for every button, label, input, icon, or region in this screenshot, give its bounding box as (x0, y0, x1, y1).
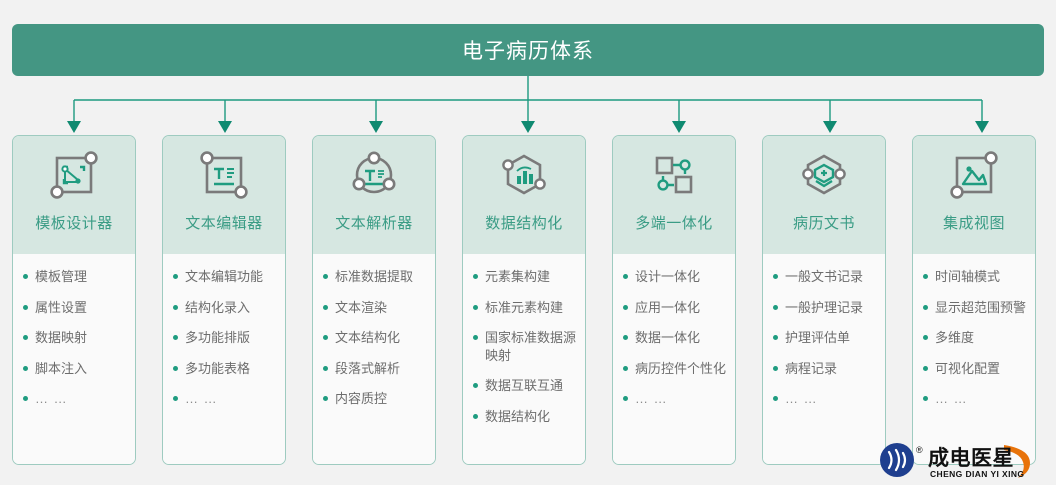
bullet-dot (773, 305, 778, 310)
image-frame-icon (943, 146, 1005, 208)
list-item-label: … … (35, 390, 68, 408)
card-body: 标准数据提取 文本渲染 文本结构化 段落式解析 内容质控 (313, 254, 435, 464)
bullet-dot (323, 396, 328, 401)
bullet-dot (923, 274, 928, 279)
list-item-label: 病历控件个性化 (635, 360, 726, 378)
list-item: 结构化录入 (173, 299, 277, 317)
arrowhead-3 (369, 121, 383, 133)
card-body: 一般文书记录 一般护理记录 护理评估单 病程记录 … … (763, 254, 885, 464)
list-item: 标准数据提取 (323, 268, 427, 286)
brand-logo: ® 成电医星 CHENG DIAN YI XING (876, 437, 1048, 483)
list-item: 文本渲染 (323, 299, 427, 317)
list-item: 文本编辑功能 (173, 268, 277, 286)
card-title: 模板设计器 (35, 212, 113, 233)
template-frame-icon (43, 146, 105, 208)
list-item: 应用一体化 (623, 299, 727, 317)
bullet-dot (773, 335, 778, 340)
card-body: 设计一体化 应用一体化 数据一体化 病历控件个性化 … … (613, 254, 735, 464)
card-medical-record-documents[interactable]: 病历文书 一般文书记录 一般护理记录 护理评估单 病程记录 … … (762, 135, 886, 465)
card-text-parser[interactable]: 文本解析器 标准数据提取 文本渲染 文本结构化 段落式解析 内容质控 (312, 135, 436, 465)
card-title: 集成视图 (943, 212, 1005, 233)
list-item: … … (623, 390, 727, 408)
list-item: 元素集构建 (473, 268, 577, 286)
list-item-label: 内容质控 (335, 390, 387, 408)
list-item-label: … … (185, 390, 218, 408)
text-circle-nodes-icon (343, 146, 405, 208)
list-item-label: 国家标准数据源映射 (485, 329, 577, 364)
arrowhead-2 (218, 121, 232, 133)
multi-node-squares-icon (643, 146, 705, 208)
bullet-dot (23, 305, 28, 310)
list-item-label: 应用一体化 (635, 299, 700, 317)
list-item: 可视化配置 (923, 360, 1027, 378)
list-item: 护理评估单 (773, 329, 877, 347)
bullet-dot (173, 396, 178, 401)
list-item-label: 文本结构化 (335, 329, 400, 347)
list-item-label: 显示超范围预警 (935, 299, 1026, 317)
bullet-dot (323, 274, 328, 279)
list-item-label: 段落式解析 (335, 360, 400, 378)
list-item-label: 元素集构建 (485, 268, 550, 286)
list-item-label: 模板管理 (35, 268, 87, 286)
list-item-label: 数据互联互通 (485, 377, 563, 395)
list-item-label: 脚本注入 (35, 360, 87, 378)
list-item: 一般护理记录 (773, 299, 877, 317)
bullet-dot (923, 335, 928, 340)
list-item: … … (773, 390, 877, 408)
card-header: 数据结构化 (463, 136, 585, 254)
card-template-designer[interactable]: 模板设计器 模板管理 属性设置 数据映射 脚本注入 … … (12, 135, 136, 465)
list-item-label: 多功能排版 (185, 329, 250, 347)
logo-registered-mark: ® (916, 445, 923, 455)
bullet-dot (23, 274, 28, 279)
card-title: 文本编辑器 (185, 212, 263, 233)
logo-brand-pinyin: CHENG DIAN YI XING (930, 469, 1024, 479)
page-title: 电子病历体系 (462, 35, 594, 65)
list-item-label: 设计一体化 (635, 268, 700, 286)
card-body: 时间轴模式 显示超范围预警 多维度 可视化配置 … … (913, 254, 1035, 464)
bullet-dot (773, 366, 778, 371)
hexagon-chart-icon (493, 146, 555, 208)
arrowhead-4 (521, 121, 535, 133)
card-data-structuring[interactable]: 数据结构化 元素集构建 标准元素构建 国家标准数据源映射 数据互联互通 数据结构… (462, 135, 586, 465)
list-item-label: 标准元素构建 (485, 299, 563, 317)
list-item: … … (923, 390, 1027, 408)
bullet-dot (623, 396, 628, 401)
list-item: 模板管理 (23, 268, 127, 286)
text-box-icon (193, 146, 255, 208)
list-item-label: 多功能表格 (185, 360, 250, 378)
arrowhead-5 (672, 121, 686, 133)
list-item: 内容质控 (323, 390, 427, 408)
arrowhead-6 (823, 121, 837, 133)
list-item: 一般文书记录 (773, 268, 877, 286)
list-item: 脚本注入 (23, 360, 127, 378)
card-multi-terminal-integration[interactable]: 多端一体化 设计一体化 应用一体化 数据一体化 病历控件个性化 … … (612, 135, 736, 465)
list-item: 多功能表格 (173, 360, 277, 378)
bullet-dot (23, 366, 28, 371)
list-item: 文本结构化 (323, 329, 427, 347)
bullet-dot (323, 335, 328, 340)
list-item: 数据映射 (23, 329, 127, 347)
list-item: 国家标准数据源映射 (473, 329, 577, 364)
bullet-dot (623, 366, 628, 371)
list-item-label: 标准数据提取 (335, 268, 413, 286)
hexagon-medical-plus-icon (793, 146, 855, 208)
list-item: 多功能排版 (173, 329, 277, 347)
bullet-dot (173, 366, 178, 371)
card-text-editor[interactable]: 文本编辑器 文本编辑功能 结构化录入 多功能排版 多功能表格 … … (162, 135, 286, 465)
list-item-label: … … (635, 390, 668, 408)
bullet-dot (773, 274, 778, 279)
bullet-dot (23, 396, 28, 401)
card-title: 文本解析器 (335, 212, 413, 233)
list-item: 数据结构化 (473, 408, 577, 426)
list-item-label: 文本编辑功能 (185, 268, 263, 286)
list-item: 段落式解析 (323, 360, 427, 378)
bullet-dot (173, 335, 178, 340)
bullet-dot (473, 274, 478, 279)
list-item: 设计一体化 (623, 268, 727, 286)
list-item-label: 多维度 (935, 329, 974, 347)
bullet-dot (623, 335, 628, 340)
list-item: 标准元素构建 (473, 299, 577, 317)
list-item: 显示超范围预警 (923, 299, 1027, 317)
card-title: 多端一体化 (635, 212, 713, 233)
bullet-dot (923, 396, 928, 401)
list-item-label: 时间轴模式 (935, 268, 1000, 286)
bullet-dot (323, 366, 328, 371)
card-header: 文本解析器 (313, 136, 435, 254)
bullet-dot (923, 305, 928, 310)
bullet-dot (773, 396, 778, 401)
root-node-banner: 电子病历体系 (12, 24, 1044, 76)
list-item: 时间轴模式 (923, 268, 1027, 286)
card-body: 文本编辑功能 结构化录入 多功能排版 多功能表格 … … (163, 254, 285, 464)
bullet-dot (323, 305, 328, 310)
bullet-dot (923, 366, 928, 371)
list-item-label: 一般文书记录 (785, 268, 863, 286)
card-title: 病历文书 (793, 212, 855, 233)
list-item-label: 数据映射 (35, 329, 87, 347)
card-body: 元素集构建 标准元素构建 国家标准数据源映射 数据互联互通 数据结构化 (463, 254, 585, 464)
list-item-label: 护理评估单 (785, 329, 850, 347)
card-header: 文本编辑器 (163, 136, 285, 254)
card-header: 病历文书 (763, 136, 885, 254)
arrowhead-7 (975, 121, 989, 133)
card-header: 集成视图 (913, 136, 1035, 254)
bullet-dot (23, 335, 28, 340)
list-item: 数据一体化 (623, 329, 727, 347)
list-item-label: 文本渲染 (335, 299, 387, 317)
bullet-dot (473, 335, 478, 340)
card-header: 模板设计器 (13, 136, 135, 254)
capability-cards-row: 模板设计器 模板管理 属性设置 数据映射 脚本注入 … … 文本编辑器 文本编辑… (12, 135, 1044, 465)
list-item-label: … … (785, 390, 818, 408)
card-header: 多端一体化 (613, 136, 735, 254)
bullet-dot (473, 383, 478, 388)
logo-brand-cn: 成电医星 (928, 446, 1014, 470)
list-item: 病程记录 (773, 360, 877, 378)
list-item: 多维度 (923, 329, 1027, 347)
bullet-dot (473, 305, 478, 310)
card-integrated-view[interactable]: 集成视图 时间轴模式 显示超范围预警 多维度 可视化配置 … … (912, 135, 1036, 465)
list-item-label: 一般护理记录 (785, 299, 863, 317)
list-item-label: 数据结构化 (485, 408, 550, 426)
list-item: 属性设置 (23, 299, 127, 317)
arrowhead-1 (67, 121, 81, 133)
bullet-dot (173, 274, 178, 279)
list-item-label: 可视化配置 (935, 360, 1000, 378)
bullet-dot (623, 274, 628, 279)
bullet-dot (173, 305, 178, 310)
list-item-label: 数据一体化 (635, 329, 700, 347)
list-item: … … (173, 390, 277, 408)
logo-mark-circle (880, 443, 914, 477)
list-item-label: 属性设置 (35, 299, 87, 317)
card-body: 模板管理 属性设置 数据映射 脚本注入 … … (13, 254, 135, 464)
list-item-label: 结构化录入 (185, 299, 250, 317)
card-title: 数据结构化 (485, 212, 563, 233)
list-item: 病历控件个性化 (623, 360, 727, 378)
bullet-dot (623, 305, 628, 310)
list-item: 数据互联互通 (473, 377, 577, 395)
bullet-dot (473, 414, 478, 419)
list-item-label: 病程记录 (785, 360, 837, 378)
list-item: … … (23, 390, 127, 408)
list-item-label: … … (935, 390, 968, 408)
